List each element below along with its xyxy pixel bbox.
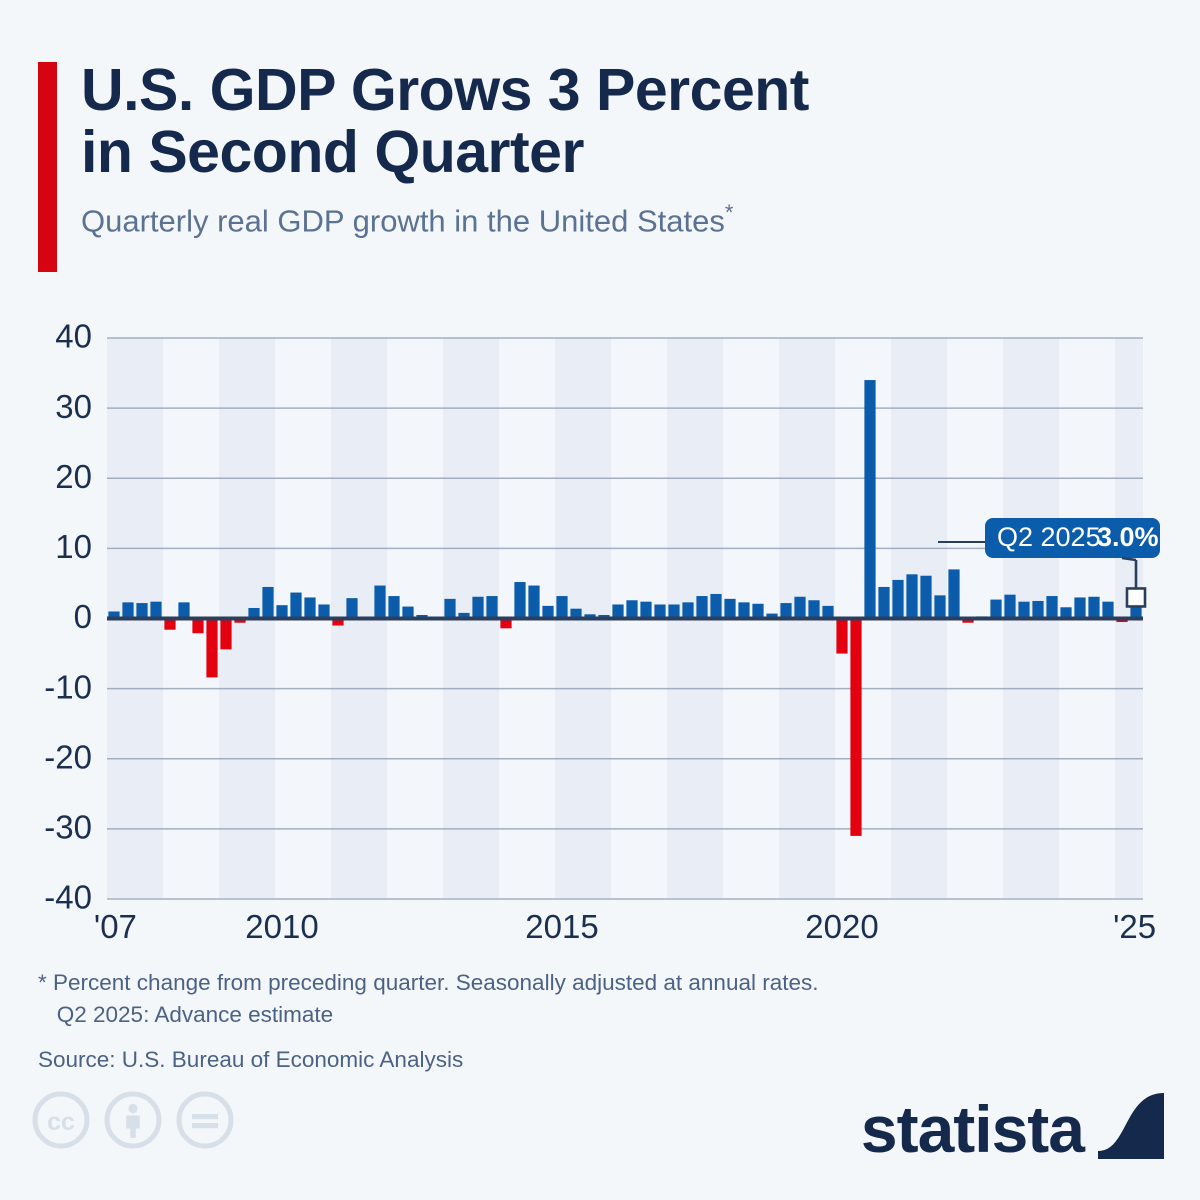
- highlight-callout: Q2 20253.0%: [938, 518, 1160, 606]
- bar-Q2-2021: [906, 574, 917, 618]
- chart-year-bands: [107, 338, 1143, 898]
- year-band-2007: [107, 338, 163, 898]
- bar-Q3-2023: [1032, 601, 1043, 619]
- year-band-2013: [443, 338, 499, 898]
- bar-Q2-2018: [738, 602, 749, 618]
- statista-mark-icon: [1098, 1093, 1164, 1164]
- callout-box[interactable]: [985, 518, 1160, 558]
- callout-label: Q2 2025: [997, 522, 1101, 552]
- y-tick-0: 0: [74, 598, 92, 635]
- bar-Q4-2013: [486, 596, 497, 618]
- bar-Q2-2019: [794, 597, 805, 619]
- bar-Q2-2013: [458, 613, 469, 619]
- year-band-2018: [723, 338, 779, 898]
- bar-Q2-2010: [290, 593, 301, 619]
- bar-Q3-2017: [696, 596, 707, 618]
- footnotes: * Percent change from preceding quarter.…: [38, 967, 1038, 1076]
- year-band-2025: [1115, 338, 1143, 898]
- creative-commons-icons: cc: [32, 1091, 234, 1149]
- svg-text:cc: cc: [47, 1108, 75, 1136]
- y-tick-30: 30: [55, 388, 92, 425]
- bar-Q1-2008: [164, 619, 175, 630]
- y-tick-20: 20: [55, 458, 92, 495]
- bar-Q3-2022: [976, 616, 987, 618]
- infographic-header: U.S. GDP Grows 3 Percent in Second Quart…: [38, 60, 1158, 239]
- y-tick-40: 40: [55, 318, 92, 355]
- bar-Q3-2016: [640, 602, 651, 619]
- x-tick-2025: '25: [1113, 908, 1156, 945]
- y-tick-10: 10: [55, 528, 92, 565]
- attribution-person-icon[interactable]: [104, 1091, 162, 1149]
- bar-Q4-2015: [598, 615, 609, 619]
- bar-Q1-2007: [108, 611, 119, 618]
- bar-Q1-2015: [556, 596, 567, 618]
- bar-Q4-2021: [934, 595, 945, 618]
- bar-Q1-2010: [276, 605, 287, 618]
- bar-Q2-2024: [1074, 597, 1085, 618]
- year-band-2019: [779, 338, 835, 898]
- bar-Q2-2025: [1130, 597, 1141, 618]
- no-derivatives-equals-icon[interactable]: [176, 1091, 234, 1149]
- bar-Q1-2024: [1060, 607, 1071, 618]
- bar-Q4-2007: [150, 602, 161, 619]
- x-tick-2020: 2020: [805, 908, 878, 945]
- year-band-2024: [1059, 338, 1115, 898]
- bar-Q4-2011: [374, 586, 385, 619]
- bar-Q3-2018: [752, 604, 763, 619]
- year-band-2017: [667, 338, 723, 898]
- bar-Q3-2008: [192, 619, 203, 634]
- bar-Q2-2015: [570, 609, 581, 619]
- bar-Q4-2017: [710, 594, 721, 619]
- bar-Q1-2021: [892, 580, 903, 619]
- y-tick--20: -20: [44, 738, 92, 775]
- year-band-2021: [891, 338, 947, 898]
- bar-Q3-2009: [248, 608, 259, 619]
- year-band-2009: [219, 338, 275, 898]
- x-tick-2015: 2015: [525, 908, 598, 945]
- year-band-2012: [387, 338, 443, 898]
- bar-Q2-2014: [514, 582, 525, 618]
- statista-wordmark: statista: [861, 1096, 1084, 1162]
- title-line-1: U.S. GDP Grows 3 Percent: [81, 60, 1158, 122]
- year-band-2016: [611, 338, 667, 898]
- bar-Q2-2007: [122, 602, 133, 618]
- statista-logo[interactable]: statista: [861, 1093, 1164, 1164]
- chart-gridlines: [107, 338, 1143, 899]
- year-band-2008: [163, 338, 219, 898]
- bar-Q4-2024: [1102, 602, 1113, 619]
- bar-Q3-2024: [1088, 597, 1099, 619]
- x-axis-labels: '07201020152020'25: [94, 908, 1156, 945]
- year-band-2023: [1003, 338, 1059, 898]
- bar-Q4-2010: [318, 604, 329, 618]
- bar-Q3-2011: [360, 619, 371, 620]
- bar-Q4-2008: [206, 619, 217, 678]
- bar-Q3-2012: [416, 615, 427, 619]
- bar-Q3-2014: [528, 586, 539, 619]
- bar-Q4-2020: [878, 587, 889, 619]
- y-tick--30: -30: [44, 809, 92, 846]
- year-band-2014: [499, 338, 555, 898]
- bar-Q1-2017: [668, 604, 679, 618]
- y-tick--10: -10: [44, 668, 92, 705]
- bar-Q1-2016: [612, 604, 623, 618]
- year-band-2022: [947, 338, 1003, 898]
- bar-Q2-2023: [1018, 602, 1029, 619]
- bar-Q2-2020: [850, 619, 861, 836]
- bar-Q1-2018: [724, 599, 735, 619]
- bar-Q4-2019: [822, 606, 833, 619]
- bar-Q1-2020: [836, 619, 847, 654]
- bar-Q4-2023: [1046, 596, 1057, 618]
- bar-Q2-2016: [626, 600, 637, 618]
- bar-Q2-2011: [346, 598, 357, 618]
- bar-Q4-2014: [542, 606, 553, 619]
- bar-Q3-2019: [808, 600, 819, 618]
- bar-Q1-2009: [220, 619, 231, 650]
- callout-tail: [1122, 558, 1136, 560]
- bar-Q1-2013: [444, 599, 455, 619]
- bar-Q4-2016: [654, 604, 665, 618]
- bar-Q3-2010: [304, 597, 315, 618]
- source-line: Source: U.S. Bureau of Economic Analysis: [38, 1044, 1038, 1076]
- footnote-line-2: Q2 2025: Advance estimate: [38, 999, 1038, 1031]
- year-band-2015: [555, 338, 611, 898]
- bar-Q1-2023: [1004, 595, 1015, 619]
- bar-Q1-2022: [948, 569, 959, 618]
- y-tick--40: -40: [44, 879, 92, 916]
- year-band-2020: [835, 338, 891, 898]
- bar-Q1-2012: [388, 596, 399, 618]
- bar-Q2-2017: [682, 602, 693, 618]
- bar-Q2-2009: [234, 619, 245, 623]
- subtitle-asterisk: *: [725, 200, 734, 225]
- x-tick-2010: 2010: [245, 908, 318, 945]
- page-subtitle: Quarterly real GDP growth in the United …: [81, 200, 1158, 239]
- footnote-line-1: * Percent change from preceding quarter.…: [38, 967, 1038, 999]
- year-band-2010: [275, 338, 331, 898]
- bar-Q3-2013: [472, 597, 483, 619]
- callout-value: 3.0%: [1097, 522, 1159, 552]
- callout-marker: [1127, 588, 1145, 606]
- bar-Q4-2012: [430, 618, 441, 619]
- bar-Q3-2021: [920, 576, 931, 619]
- bar-Q2-2012: [402, 607, 413, 619]
- title-line-2: in Second Quarter: [81, 122, 1158, 184]
- bar-Q3-2015: [584, 614, 595, 618]
- bar-Q4-2022: [990, 600, 1001, 619]
- red-accent-bar: [38, 62, 57, 272]
- bar-Q1-2014: [500, 619, 511, 629]
- bar-Q3-2020: [864, 380, 875, 618]
- bar-Q4-2018: [766, 614, 777, 619]
- y-axis-labels: 403020100-10-20-30-40: [44, 318, 92, 916]
- chart-bars: [108, 380, 1141, 836]
- bar-Q1-2019: [780, 603, 791, 618]
- bar-Q2-2022: [962, 619, 973, 623]
- bar-Q3-2007: [136, 603, 147, 618]
- x-tick-2007: '07: [94, 908, 137, 945]
- subtitle-text: Quarterly real GDP growth in the United …: [81, 203, 725, 238]
- bar-Q1-2011: [332, 619, 343, 626]
- year-band-2011: [331, 338, 387, 898]
- bar-Q4-2009: [262, 587, 273, 619]
- page-title: U.S. GDP Grows 3 Percent in Second Quart…: [81, 60, 1158, 184]
- bar-Q1-2025: [1116, 619, 1127, 623]
- footer-bar: cc statista: [0, 1085, 1200, 1185]
- bar-Q2-2008: [178, 602, 189, 618]
- cc-icon[interactable]: cc: [32, 1091, 90, 1149]
